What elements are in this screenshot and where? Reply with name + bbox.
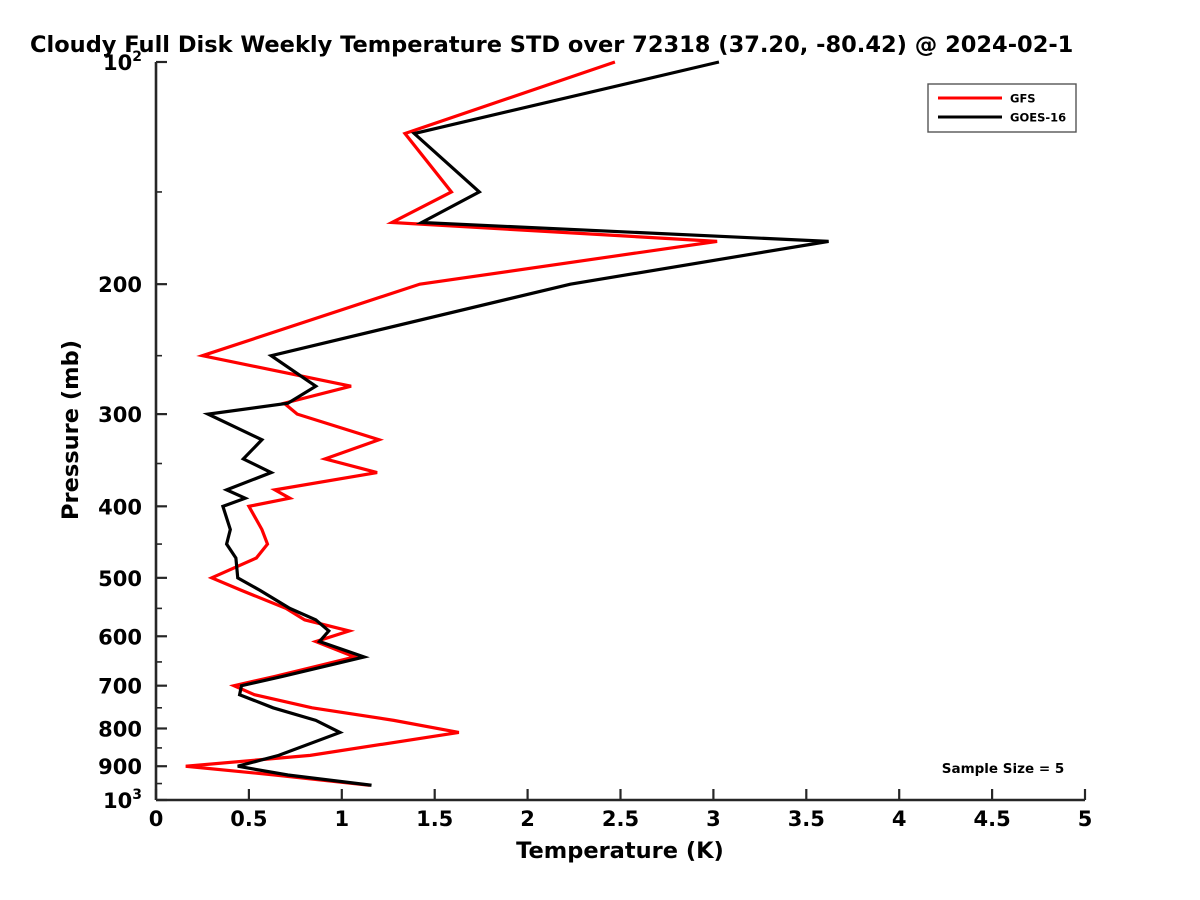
y-tick-label: 500 (98, 567, 142, 591)
y-tick-label: 900 (98, 755, 142, 779)
legend-background (928, 84, 1076, 132)
y-tick-label: 600 (98, 625, 142, 649)
y-tick-label: 300 (98, 403, 142, 427)
x-tick-label: 4 (892, 807, 907, 831)
y-tick-label: 700 (98, 675, 142, 699)
temperature-std-profile-chart: Cloudy Full Disk Weekly Temperature STD … (0, 0, 1200, 900)
y-tick-label: 200 (98, 273, 142, 297)
x-tick-label: 0.5 (230, 807, 267, 831)
legend-label-gfs: GFS (1010, 92, 1036, 106)
chart-title: Cloudy Full Disk Weekly Temperature STD … (30, 32, 1073, 58)
x-tick-label: 2.5 (602, 807, 639, 831)
chart-legend[interactable]: GFSGOES-16 (928, 84, 1076, 132)
x-tick-label: 2 (520, 807, 535, 831)
y-tick-label: 400 (98, 495, 142, 519)
sample-size-annotation: Sample Size = 5 (942, 761, 1065, 777)
x-tick-label: 3 (706, 807, 721, 831)
y-tick-label: 800 (98, 717, 142, 741)
figure-container: Cloudy Full Disk Weekly Temperature STD … (0, 0, 1200, 900)
x-tick-label: 5 (1078, 807, 1093, 831)
legend-label-goes-16: GOES-16 (1010, 111, 1066, 125)
y-axis-title: Pressure (mb) (58, 340, 84, 520)
x-tick-label: 4.5 (973, 807, 1010, 831)
x-tick-label: 1 (334, 807, 349, 831)
x-tick-label: 1.5 (416, 807, 453, 831)
x-axis-title: Temperature (K) (516, 838, 724, 864)
x-tick-label: 0 (149, 807, 164, 831)
x-tick-label: 3.5 (788, 807, 825, 831)
